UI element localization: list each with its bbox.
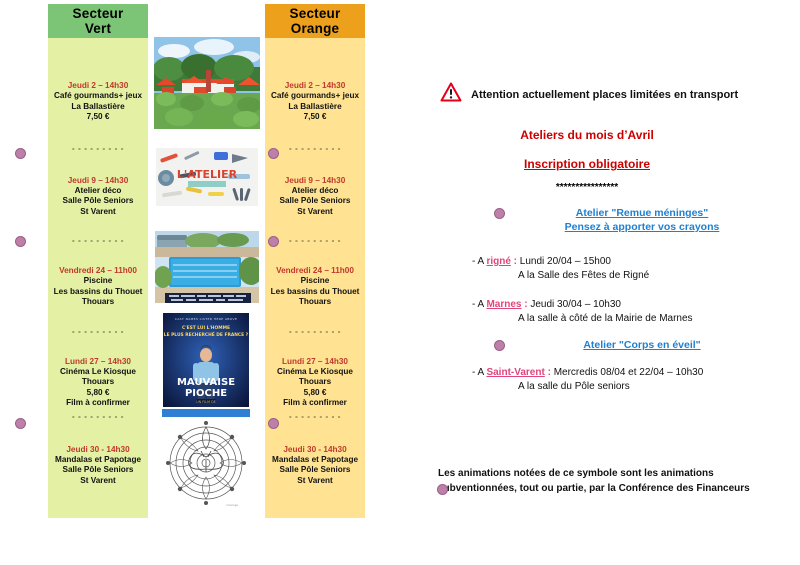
workshop-remue-meninges: Atelier "Remue méninges" Pensez à apport… — [492, 206, 792, 234]
location-prefix: - A — [472, 367, 486, 378]
svg-text:UN FILM DE: UN FILM DE — [196, 400, 216, 404]
funded-dot — [268, 148, 279, 159]
event-date: Lundi 27 – 14h30 — [51, 356, 145, 367]
location-colon: : — [545, 367, 554, 378]
event-separator: - - - - - - - - - — [265, 144, 365, 154]
sector-vert-body: Jeudi 2 – 14h30 Café gourmands+ jeux La … — [48, 38, 148, 518]
sector-orange-title-line1: Secteur — [290, 6, 341, 21]
event-line: Thouars — [51, 297, 145, 308]
warning-row: Attention actuellement places limitées e… — [440, 82, 738, 107]
event-line: 7,50 € — [268, 112, 362, 123]
event-date: Jeudi 30 - 14h30 — [51, 444, 145, 455]
event-line: Atelier déco — [51, 186, 145, 197]
funded-dot — [15, 236, 26, 247]
event-line: Salle Pôle Seniors — [51, 465, 145, 476]
event-date: Vendredi 24 – 11h00 — [51, 265, 145, 276]
event-line: 7,50 € — [51, 112, 145, 123]
event-line: Thouars — [268, 377, 362, 388]
photo-mandala: coloriage — [160, 407, 252, 509]
atelier-photo-label: L'ATELIER — [177, 168, 238, 181]
event-line: Les bassins du Thouet — [51, 287, 145, 298]
info-panel: Attention actuellement places limitées e… — [432, 0, 800, 565]
panel-title: Ateliers du mois d’Avril — [432, 128, 742, 142]
location-when: Mercredis 08/04 et 22/04 – 10h30 — [554, 367, 704, 378]
event-separator: - - - - - - - - - — [48, 144, 148, 154]
workshop-corps-en-eveil: Atelier "Corps en éveil" — [492, 338, 792, 352]
footnote-line2: subventionnées, tout ou partie, par la C… — [438, 481, 788, 496]
event-line: St Varent — [268, 476, 362, 487]
workshop-link-line2[interactable]: Pensez à apporter vos crayons — [492, 220, 792, 234]
event-line: 5,80 € — [51, 388, 145, 399]
event-line: Cinéma Le Kiosque — [51, 367, 145, 378]
location-prefix: - A — [472, 256, 486, 267]
event-separator: - - - - - - - - - — [265, 236, 365, 246]
poster-tagline-1: C'EST LUI L'HOMME — [182, 325, 230, 331]
event-line: Salle Pôle Seniors — [268, 465, 362, 476]
event-item: Jeudi 2 – 14h30 Café gourmands+ jeux La … — [48, 80, 148, 123]
photo-atelier-deco: L'ATELIER — [156, 148, 258, 206]
funded-dot — [15, 418, 26, 429]
warning-text: Attention actuellement places limitées e… — [471, 89, 738, 101]
event-item: Lundi 27 – 14h30 Cinéma Le Kiosque Thoua… — [265, 356, 365, 409]
svg-text:coloriage: coloriage — [226, 503, 238, 507]
event-line: Thouars — [268, 297, 362, 308]
sector-vert-title-line2: Vert — [85, 21, 111, 36]
event-separator: - - - - - - - - - — [48, 412, 148, 422]
location-place: rigné — [486, 256, 510, 267]
flyer-page: SecteurVert Jeudi 2 – 14h30 Café gourman… — [0, 0, 800, 565]
funded-dot — [494, 340, 505, 351]
event-date: Jeudi 2 – 14h30 — [268, 80, 362, 91]
location-when: Lundi 20/04 – 15h00 — [520, 256, 611, 267]
event-line: 5,80 € — [268, 388, 362, 399]
event-line: St Varent — [51, 476, 145, 487]
event-item: Jeudi 30 - 14h30 Mandalas et Papotage Sa… — [265, 444, 365, 487]
event-item: Vendredi 24 – 11h00 Piscine Les bassins … — [265, 265, 365, 308]
event-date: Jeudi 2 – 14h30 — [51, 80, 145, 91]
sector-orange-header: SecteurOrange — [265, 4, 365, 38]
event-line: Film à confirmer — [51, 398, 145, 409]
event-item: Jeudi 2 – 14h30 Café gourmands+ jeux La … — [265, 80, 365, 123]
location-saint-varent: - A Saint-Varent : Mercredis 08/04 et 22… — [472, 366, 703, 394]
event-separator: - - - - - - - - - — [265, 327, 365, 337]
event-separator: - - - - - - - - - — [48, 236, 148, 246]
event-line: St Varent — [51, 207, 145, 218]
location-marnes: - A Marnes : Jeudi 30/04 – 10h30 A la sa… — [472, 298, 693, 326]
event-line: Atelier déco — [268, 186, 362, 197]
funded-dot — [268, 236, 279, 247]
event-line: Mandalas et Papotage — [268, 455, 362, 466]
event-line: Mandalas et Papotage — [51, 455, 145, 466]
event-date: Vendredi 24 – 11h00 — [268, 265, 362, 276]
sector-column-orange: SecteurOrange Jeudi 2 – 14h30 Café gourm… — [265, 4, 365, 518]
sector-column-vert: SecteurVert Jeudi 2 – 14h30 Café gourman… — [48, 4, 148, 518]
event-item: Jeudi 9 – 14h30 Atelier déco Salle Pôle … — [48, 175, 148, 218]
poster-title-2: PIOCHE — [185, 388, 227, 399]
event-date: Jeudi 9 – 14h30 — [268, 175, 362, 186]
location-place: Saint-Varent — [486, 367, 544, 378]
event-separator: - - - - - - - - - — [48, 327, 148, 337]
event-line: St Varent — [268, 207, 362, 218]
location-when: Jeudi 30/04 – 10h30 — [530, 299, 621, 310]
event-item: Jeudi 9 – 14h30 Atelier déco Salle Pôle … — [265, 175, 365, 218]
location-venue: A la salle à côté de la Mairie de Marnes — [472, 312, 693, 326]
location-prefix: - A — [472, 299, 486, 310]
photo-ballastiere — [154, 37, 260, 129]
location-place: Marnes — [486, 299, 521, 310]
event-line: Thouars — [51, 377, 145, 388]
event-line: Café gourmands+ jeux — [51, 91, 145, 102]
sector-vert-header: SecteurVert — [48, 4, 148, 38]
photo-film-poster: CAST NAMES LISTED HERE ABOVE C'EST LUI L… — [163, 313, 249, 410]
funded-dot-legend — [437, 484, 448, 495]
event-item: Lundi 27 – 14h30 Cinéma Le Kiosque Thoua… — [48, 356, 148, 409]
event-line: Cinéma Le Kiosque — [268, 367, 362, 378]
panel-subtitle: Inscription obligatoire — [432, 157, 742, 171]
funded-dot — [268, 418, 279, 429]
event-line: Les bassins du Thouet — [268, 287, 362, 298]
location-rigne: - A rigné : Lundi 20/04 – 15h00 A la Sal… — [472, 255, 649, 283]
event-line: Film à confirmer — [268, 398, 362, 409]
event-line: Salle Pôle Seniors — [268, 196, 362, 207]
event-item: Jeudi 30 - 14h30 Mandalas et Papotage Sa… — [48, 444, 148, 487]
event-line: Café gourmands+ jeux — [268, 91, 362, 102]
location-colon: : — [511, 256, 520, 267]
footnote-line1: Les animations notées de ce symbole sont… — [438, 466, 788, 481]
poster-title-1: MAUVAISE — [177, 377, 235, 388]
workshop-link-line1[interactable]: Atelier "Remue méninges" — [492, 206, 792, 220]
event-date: Jeudi 30 - 14h30 — [268, 444, 362, 455]
workshop-link-line1[interactable]: Atelier "Corps en éveil" — [492, 338, 792, 352]
funded-dot — [494, 208, 505, 219]
photo-piscine — [155, 231, 259, 303]
panel-stars-divider: **************** — [432, 182, 742, 193]
event-line: Salle Pôle Seniors — [51, 196, 145, 207]
event-item: Vendredi 24 – 11h00 Piscine Les bassins … — [48, 265, 148, 308]
location-venue: A la Salle des Fêtes de Rigné — [472, 269, 649, 283]
svg-text:CAST NAMES LISTED HERE ABO: CAST NAMES LISTED HERE ABOVE — [175, 317, 238, 321]
sector-vert-title-line1: Secteur — [73, 6, 124, 21]
sector-orange-body: Jeudi 2 – 14h30 Café gourmands+ jeux La … — [265, 38, 365, 518]
funded-dot — [15, 148, 26, 159]
sector-orange-title-line2: Orange — [291, 21, 339, 36]
footnote: Les animations notées de ce symbole sont… — [438, 466, 788, 496]
event-line: La Ballastière — [51, 102, 145, 113]
event-separator: - - - - - - - - - — [265, 412, 365, 422]
event-line: Piscine — [51, 276, 145, 287]
event-date: Lundi 27 – 14h30 — [268, 356, 362, 367]
event-line: Piscine — [268, 276, 362, 287]
event-line: La Ballastière — [268, 102, 362, 113]
warning-triangle-icon — [440, 82, 462, 107]
event-date: Jeudi 9 – 14h30 — [51, 175, 145, 186]
location-venue: A la salle du Pôle seniors — [472, 380, 703, 394]
